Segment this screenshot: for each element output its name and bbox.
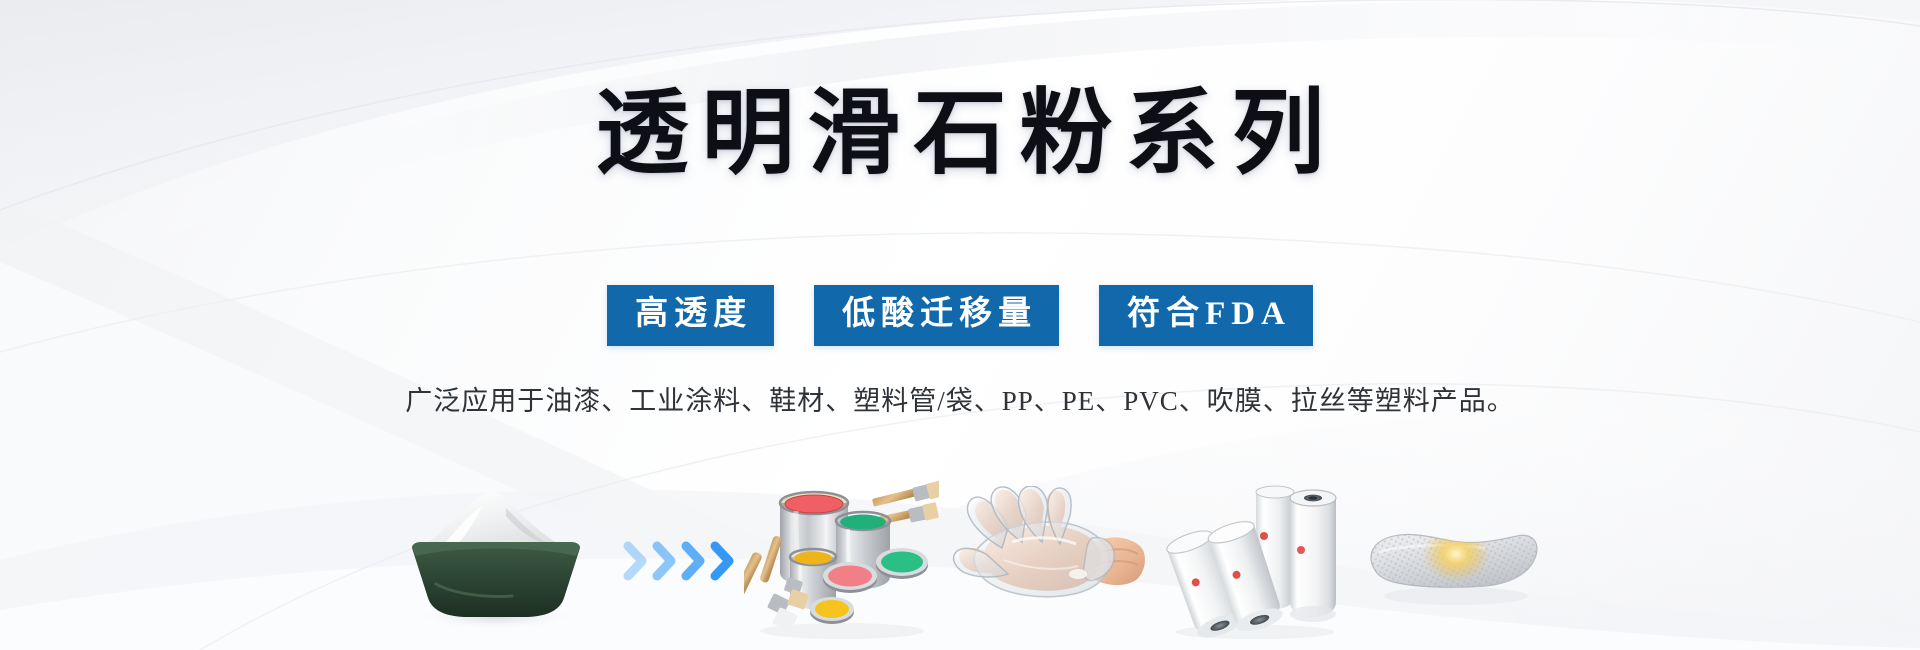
- chevron-arrows-icon: [623, 541, 736, 581]
- badge-high-transparency[interactable]: 高透度: [607, 285, 774, 346]
- green-bowl: [412, 542, 580, 617]
- chevron-right-icon-3: [681, 541, 707, 581]
- film-rolls-icon: [1160, 484, 1345, 639]
- banner-content: 透明滑石粉系列 高透度 低酸迁移量 符合FDA 广泛应用于油漆、工业涂料、鞋材、…: [0, 0, 1920, 650]
- chevron-right-icon-2: [652, 541, 678, 581]
- paint-cans-icon: [744, 481, 939, 641]
- paint-lid-pink: [823, 562, 877, 593]
- application-subtitle: 广泛应用于油漆、工业涂料、鞋材、塑料管/袋、PP、PE、PVC、吹膜、拉丝等塑料…: [405, 388, 1515, 415]
- illustration-shoe-sole: [1352, 476, 1550, 646]
- illustration-film-rolls: [1153, 476, 1351, 646]
- chevron-right-icon-1: [623, 541, 649, 581]
- paint-lid-yellow: [810, 597, 854, 624]
- glove-film: [954, 486, 1115, 597]
- page-title: 透明滑石粉系列: [583, 88, 1338, 181]
- illustration-strip: [370, 476, 1550, 646]
- illustration-talc-powder: [370, 476, 621, 646]
- product-banner: 透明滑石粉系列 高透度 低酸迁移量 符合FDA 广泛应用于油漆、工业涂料、鞋材、…: [0, 0, 1920, 650]
- paint-brush-top-1: [872, 481, 939, 507]
- plastic-glove-icon: [952, 486, 1147, 636]
- paint-lid-green: [876, 548, 928, 579]
- film-roll-right: [1290, 490, 1336, 622]
- shoe-sole-icon: [1361, 496, 1541, 626]
- illustration-plastic-glove: [945, 476, 1153, 646]
- illustration-arrows: [621, 476, 737, 646]
- badge-fda-compliant[interactable]: 符合FDA: [1099, 285, 1313, 346]
- sole-glow-highlight: [1422, 526, 1490, 582]
- chevron-right-icon-4: [710, 541, 736, 581]
- feature-badge-group: 高透度 低酸迁移量 符合FDA: [607, 285, 1313, 346]
- illustration-paint-cans: [738, 476, 946, 646]
- talc-powder-icon: [376, 486, 616, 636]
- badge-low-acid-migration[interactable]: 低酸迁移量: [814, 285, 1059, 346]
